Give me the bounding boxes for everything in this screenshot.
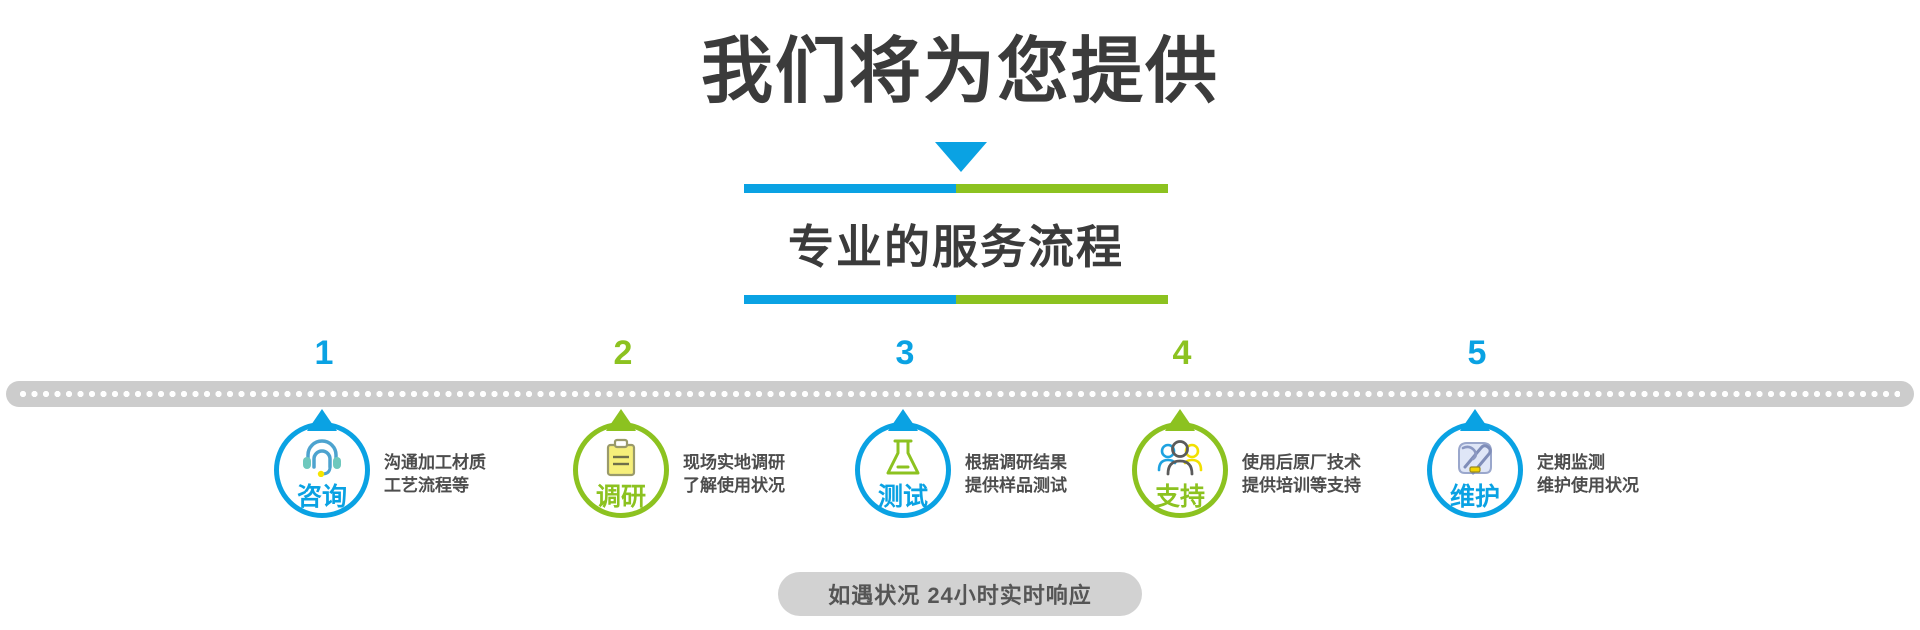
service-process-infographic: 我们将为您提供 专业的服务流程 1 咨询 沟通加工材质 工艺流程等 xyxy=(0,0,1920,630)
step-4-desc-line2: 提供培训等支持 xyxy=(1242,475,1361,498)
step-5-notch xyxy=(1460,409,1490,431)
step-1-badge[interactable]: 咨询 xyxy=(274,422,370,518)
banner-box: 专业的服务流程 xyxy=(744,184,1168,304)
step-1-desc-line1: 沟通加工材质 xyxy=(384,452,486,475)
step-5-badge[interactable]: 维护 xyxy=(1427,422,1523,518)
step-5-number: 5 xyxy=(1447,336,1507,370)
step-2-number: 2 xyxy=(593,336,653,370)
step-3-label: 测试 xyxy=(855,485,951,510)
status-badge: 如遇状况 24小时实时响应 xyxy=(778,572,1142,616)
step-2-badge[interactable]: 调研 xyxy=(573,422,669,518)
step-3-description: 根据调研结果 提供样品测试 xyxy=(965,452,1067,498)
step-3-notch xyxy=(888,409,918,431)
step-1-description: 沟通加工材质 工艺流程等 xyxy=(384,452,486,498)
wrench-tools-icon xyxy=(1451,437,1499,477)
step-2-label: 调研 xyxy=(573,485,669,510)
page-title: 我们将为您提供 xyxy=(0,36,1920,108)
step-2-desc-line1: 现场实地调研 xyxy=(683,452,785,475)
step-3-number: 3 xyxy=(875,336,935,370)
step-5-label: 维护 xyxy=(1427,485,1523,510)
step-4-label: 支持 xyxy=(1132,485,1228,510)
step-4-badge[interactable]: 支持 xyxy=(1132,422,1228,518)
step-4-description: 使用后原厂技术 提供培训等支持 xyxy=(1242,452,1361,498)
people-group-icon xyxy=(1156,437,1204,477)
timeline-rail xyxy=(6,381,1914,407)
step-1-desc-line2: 工艺流程等 xyxy=(384,475,486,498)
step-5-desc-line1: 定期监测 xyxy=(1537,452,1639,475)
step-4-notch xyxy=(1165,409,1195,431)
step-3-desc-line1: 根据调研结果 xyxy=(965,452,1067,475)
step-2-notch xyxy=(606,409,636,431)
timeline-rail-dots xyxy=(20,391,1900,397)
step-1-number: 1 xyxy=(294,336,354,370)
step-2-description: 现场实地调研 了解使用状况 xyxy=(683,452,785,498)
step-4-desc-line1: 使用后原厂技术 xyxy=(1242,452,1361,475)
step-1-notch xyxy=(307,409,337,431)
flask-icon xyxy=(879,437,927,477)
clipboard-icon xyxy=(597,437,645,477)
headset-icon xyxy=(298,437,346,477)
banner-title: 专业的服务流程 xyxy=(744,193,1168,295)
step-2-desc-line2: 了解使用状况 xyxy=(683,475,785,498)
step-3-desc-line2: 提供样品测试 xyxy=(965,475,1067,498)
step-4-number: 4 xyxy=(1152,336,1212,370)
step-5-description: 定期监测 维护使用状况 xyxy=(1537,452,1639,498)
step-3-badge[interactable]: 测试 xyxy=(855,422,951,518)
step-5-desc-line2: 维护使用状况 xyxy=(1537,475,1639,498)
step-1-label: 咨询 xyxy=(274,485,370,510)
chevron-down-icon xyxy=(935,142,987,172)
